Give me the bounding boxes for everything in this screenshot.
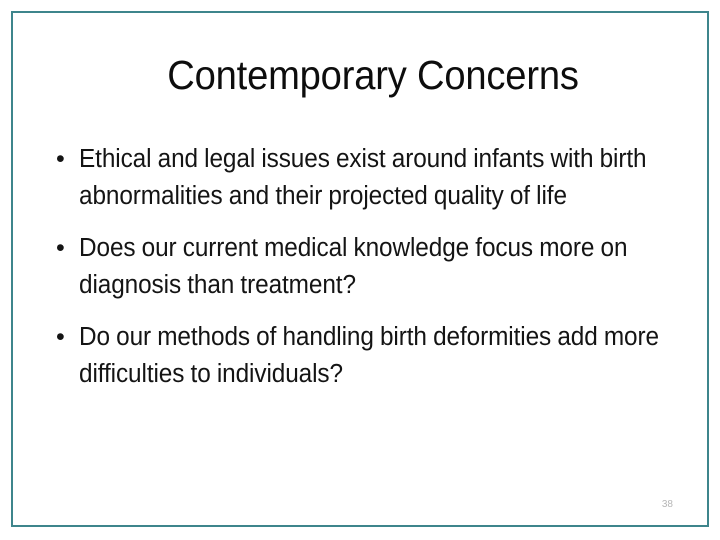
presentation-slide: Contemporary Concerns • Ethical and lega… bbox=[0, 0, 720, 540]
bullet-dot-icon: • bbox=[49, 141, 79, 178]
slide-title: Contemporary Concerns bbox=[75, 51, 670, 99]
bullet-list-item: • Ethical and legal issues exist around … bbox=[49, 141, 693, 215]
bullet-list-item: • Do our methods of handling birth defor… bbox=[49, 319, 693, 393]
bullet-dot-icon: • bbox=[49, 319, 79, 356]
bullet-item-text: Do our methods of handling birth deformi… bbox=[79, 319, 665, 393]
bullet-dot-icon: • bbox=[49, 230, 79, 267]
bullet-list-item: • Does our current medical knowledge foc… bbox=[49, 230, 693, 304]
slide-page-number: 38 bbox=[662, 499, 673, 511]
bullet-item-text: Ethical and legal issues exist around in… bbox=[79, 141, 665, 215]
slide-border-frame: Contemporary Concerns • Ethical and lega… bbox=[11, 11, 709, 527]
bullet-item-text: Does our current medical knowledge focus… bbox=[79, 230, 665, 304]
slide-body-content: • Ethical and legal issues exist around … bbox=[49, 141, 693, 393]
